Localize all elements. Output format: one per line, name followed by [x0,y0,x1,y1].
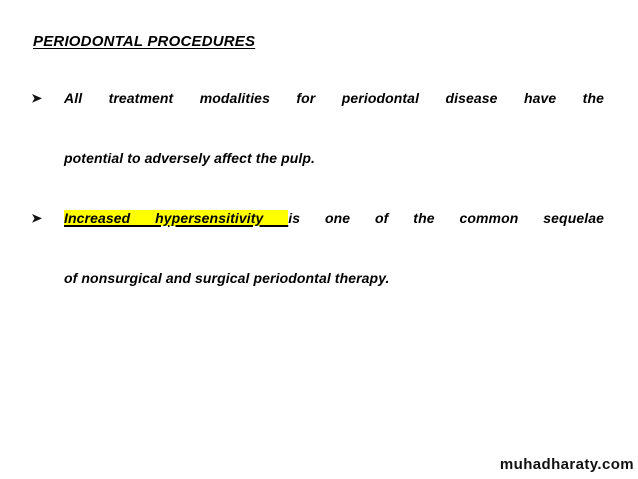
bullet-item-2: Increased hypersensitivity is one of the… [31,208,604,288]
bullet-1-line-2: potential to adversely affect the pulp. [64,148,604,168]
bullet-row: Increased hypersensitivity is one of the… [31,208,604,228]
watermark-label: muhadharaty.com [500,456,634,473]
bullet-2-line-2: of nonsurgical and surgical periodontal … [64,268,604,288]
bullet-arrow-icon [31,88,51,104]
bullet-2-line-1-rest: is one of the common sequelae [288,210,604,226]
bullet-item-1: All treatment modalities for periodontal… [31,88,604,168]
highlighted-term: Increased hypersensitivity [64,210,288,226]
bullet-2-line-1: Increased hypersensitivity is one of the… [64,208,604,228]
bullet-arrow-icon [31,208,51,224]
slide-canvas: PERIODONTAL PROCEDURES All treatment mod… [0,0,638,479]
bullet-row: All treatment modalities for periodontal… [31,88,604,108]
page-title: PERIODONTAL PROCEDURES [33,33,255,51]
bullet-1-line-1: All treatment modalities for periodontal… [64,88,604,108]
